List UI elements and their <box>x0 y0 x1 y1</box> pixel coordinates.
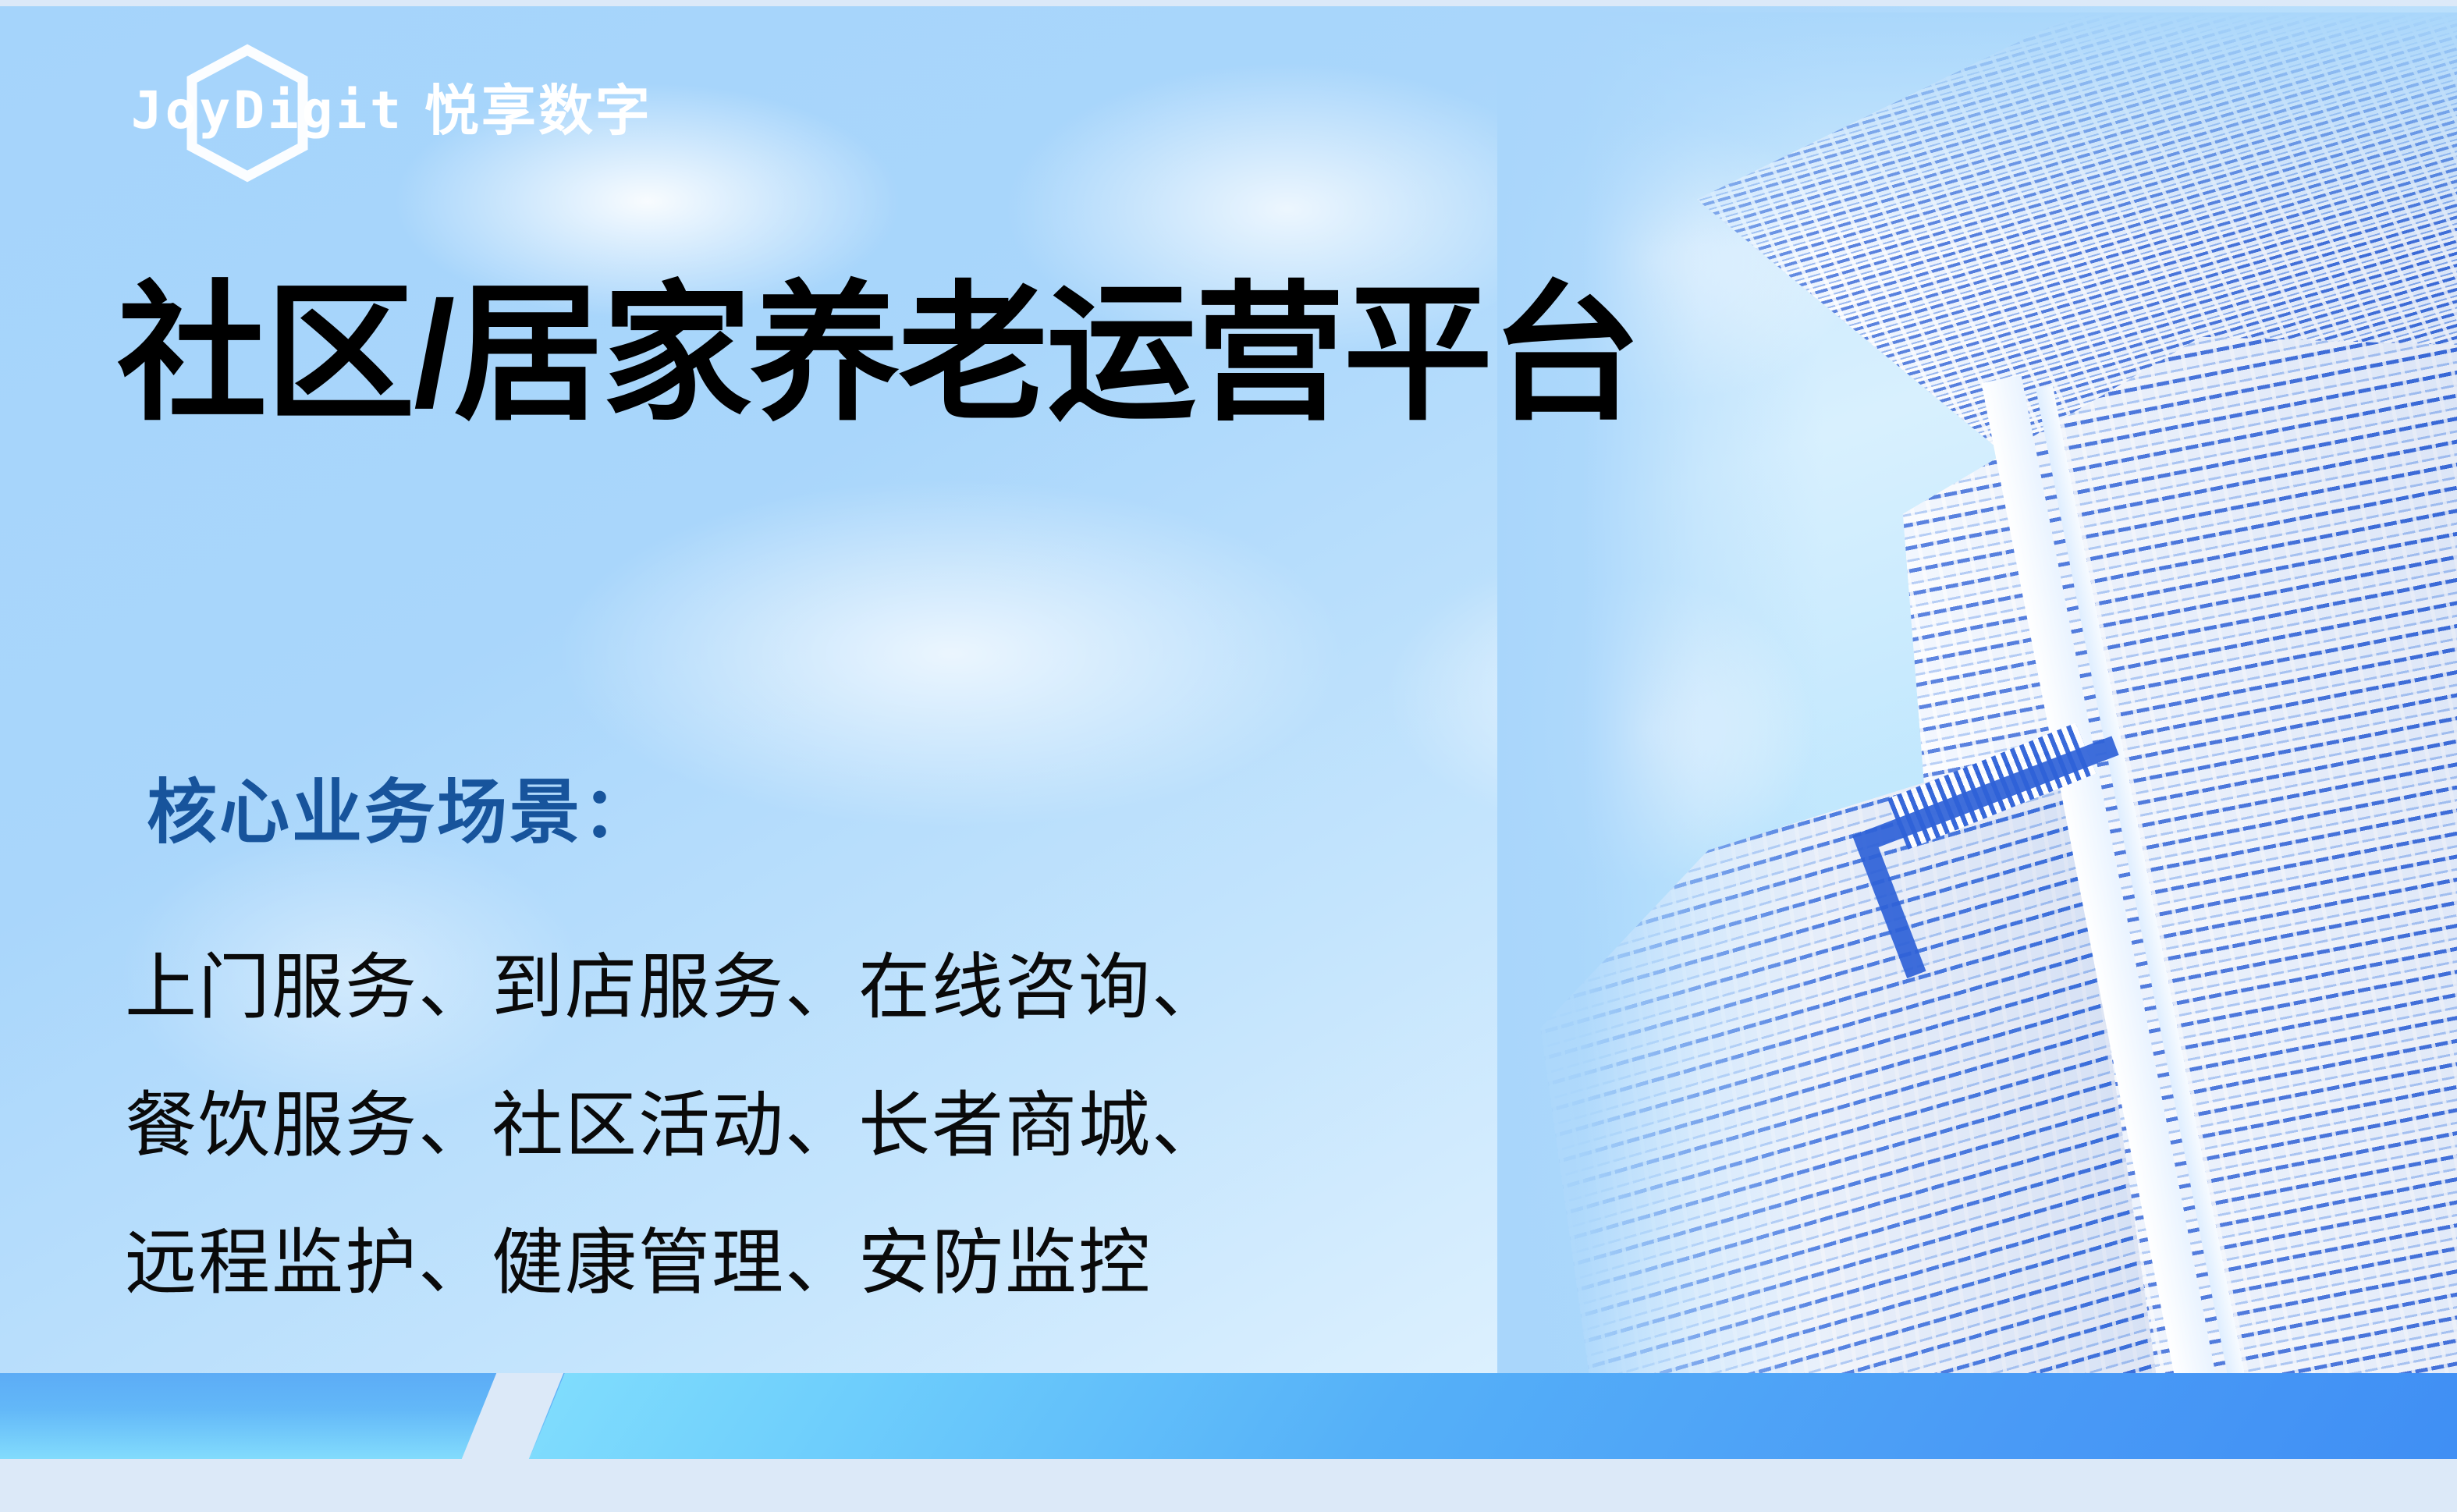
logo-wordmark: JoyDigit <box>131 85 404 137</box>
photo-left-fade <box>1497 12 2457 1459</box>
bottom-decorative-bar <box>0 1373 2457 1459</box>
slide-background: JoyDigit 悦享数字 社区/居家养老运营平台 核心业务场景： 上门服务、到… <box>0 6 2457 1459</box>
logo-chinese-name: 悦享数字 <box>424 83 652 138</box>
skyscraper-photo <box>1497 12 2457 1459</box>
slide-canvas: JoyDigit 悦享数字 社区/居家养老运营平台 核心业务场景： 上门服务、到… <box>0 0 2457 1512</box>
scenario-list: 上门服务、到店服务、在线咨询、 餐饮服务、社区活动、长者商城、 远程监护、健康管… <box>125 919 1225 1333</box>
bar-segment-main <box>527 1373 2457 1459</box>
page-title: 社区/居家养老运营平台 <box>117 270 1639 438</box>
scenario-line: 远程监护、健康管理、安防监控 <box>125 1194 1225 1333</box>
scenario-line: 餐饮服务、社区活动、长者商城、 <box>125 1057 1225 1195</box>
section-heading: 核心业务场景： <box>147 775 655 852</box>
brand-logo: JoyDigit 悦享数字 <box>131 75 652 147</box>
scenario-line: 上门服务、到店服务、在线咨询、 <box>125 919 1225 1057</box>
